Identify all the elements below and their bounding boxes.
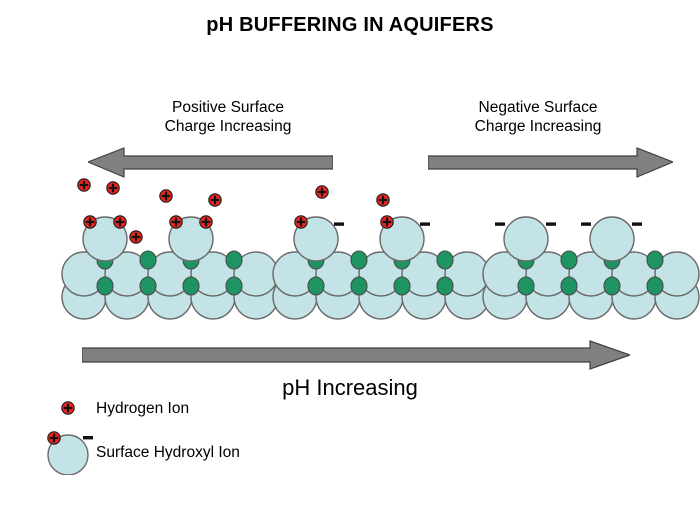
oxygen-atom: [518, 277, 534, 295]
legend-minus-sign-icon: [83, 436, 93, 439]
oxygen-atom: [437, 277, 453, 295]
legend-symbols: [30, 390, 100, 475]
ph-increasing-arrow: [82, 340, 630, 370]
oxygen-atom: [604, 277, 620, 295]
hydrogen-ion: [130, 231, 142, 243]
minus-sign-icon: [334, 222, 344, 225]
hydrogen-ion: [377, 194, 389, 206]
high-ph-cluster: [483, 217, 699, 319]
legend-hydrogen-ion-label: Hydrogen Ion: [96, 400, 189, 418]
minus-sign-icon: [495, 222, 505, 225]
long-right-arrow-icon: [82, 340, 630, 370]
oxygen-atom: [140, 277, 156, 295]
legend-hydrogen-ion-icon: [62, 402, 74, 414]
mineral-surface-illustration: [0, 0, 700, 330]
minus-sign-icon: [546, 222, 556, 225]
oxygen-atom: [97, 277, 113, 295]
oxygen-atom: [351, 277, 367, 295]
hydrogen-ion: [381, 216, 393, 228]
minus-sign-icon: [581, 222, 591, 225]
oxygen-atom: [647, 251, 663, 269]
free-hydrogen-ions-neutral-ph: [316, 186, 389, 206]
hydrogen-ion: [295, 216, 307, 228]
hydrogen-ion: [200, 216, 212, 228]
neutral-ph-cluster: [273, 186, 489, 319]
hydrogen-ion: [107, 182, 119, 194]
oxygen-atom: [647, 277, 663, 295]
oxygen-atom: [140, 251, 156, 269]
oxygen-atom: [561, 277, 577, 295]
oxygen-atom: [226, 251, 242, 269]
minus-sign-icon: [632, 222, 642, 225]
oxygen-atom: [394, 277, 410, 295]
legend-bound-hydrogen-ion-icon: [48, 432, 60, 444]
hydrogen-ion: [84, 216, 96, 228]
hydrogen-ion: [170, 216, 182, 228]
oxygen-atom: [437, 251, 453, 269]
low-ph-cluster: [62, 179, 278, 319]
hydrogen-ion: [160, 190, 172, 202]
oxygen-atom: [183, 277, 199, 295]
hydrogen-ion: [78, 179, 90, 191]
hydrogen-ion: [114, 216, 126, 228]
legend-surface-hydroxyl-ion-label: Surface Hydroxyl Ion: [96, 444, 240, 462]
oxygen-atom: [226, 277, 242, 295]
oxygen-atom: [351, 251, 367, 269]
diagram-canvas: pH BUFFERING IN AQUIFERS Positive Surfac…: [0, 0, 700, 525]
ph-increasing-caption: pH Increasing: [0, 375, 700, 401]
surface-hydroxyl-ion: [504, 217, 548, 261]
oxygen-atom: [561, 251, 577, 269]
surface-hydroxyl-ion: [590, 217, 634, 261]
hydrogen-ion: [209, 194, 221, 206]
oxygen-atom: [308, 277, 324, 295]
minus-sign-icon: [420, 222, 430, 225]
hydrogen-ion: [316, 186, 328, 198]
